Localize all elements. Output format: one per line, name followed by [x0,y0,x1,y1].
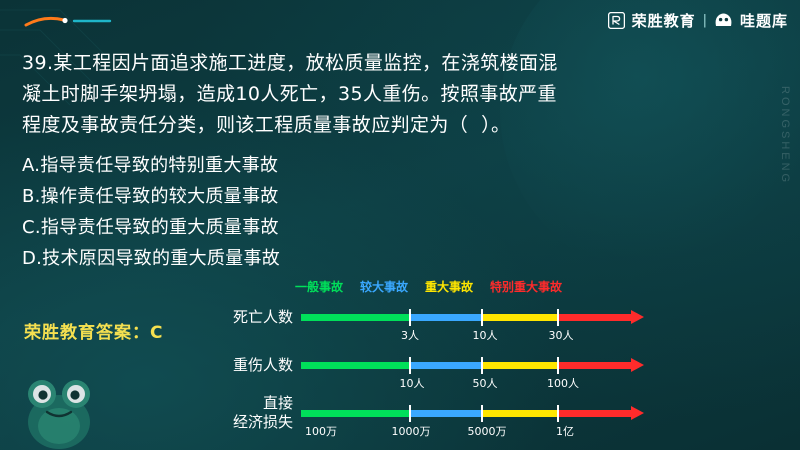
tick-label: 10人 [400,375,425,391]
legend-item-major: 较大事故 [360,278,408,295]
tick-label: 3人 [401,327,419,343]
segment-serious [482,362,558,369]
tick-label: 1亿 [556,423,574,439]
option-a: A.指导责任导致的特别重大事故 [22,150,722,181]
rongsheng-r-icon [608,12,625,29]
question-line: 39.某工程因片面追求施工进度，放松质量监控，在浇筑楼面混 [22,48,778,79]
row-arrow-icon [631,358,644,372]
wa-tiku-face-icon [714,12,733,29]
segment-serious [482,314,558,321]
tick-mark [481,405,483,422]
answer-label: 荣胜教育答案： [24,323,150,343]
row-label-economic-loss: 直接 经济损失 [215,394,293,432]
tick-mark [481,309,483,326]
row-label-serious-injuries: 重伤人数 [215,356,293,375]
option-d: D.技术原因导致的重大质量事故 [22,243,722,274]
options-list: A.指导责任导致的特别重大事故 B.操作责任导致的较大质量事故 C.指导责任导致… [22,150,722,274]
answer-line: 荣胜教育答案：C [24,318,163,343]
option-c: C.指导责任导致的重大质量事故 [22,212,722,243]
segment-general [301,362,410,369]
tick-label: 50人 [473,375,498,391]
segment-general [301,314,410,321]
option-b: B.操作责任导致的较大质量事故 [22,181,722,212]
row-arrow-icon [631,310,644,324]
tick-label: 100万 [305,423,337,439]
segment-general [301,410,410,417]
tick-mark [409,309,411,326]
row-bar [301,410,631,417]
watermark-text: RONGSHENG [779,86,791,185]
orange-arc-logo-icon [22,14,114,30]
legend-item-serious: 重大事故 [425,278,473,295]
tick-label: 100人 [547,375,579,391]
chart-row: 重伤人数 10人 50人 100人 [215,356,785,400]
segment-extra-serious [558,410,631,417]
tick-mark [409,405,411,422]
tick-mark [557,405,559,422]
segment-major [410,362,483,369]
brand-separator: | [703,13,707,28]
question-text: 39.某工程因片面追求施工进度，放松质量监控，在浇筑楼面混 凝土时脚手架坍塌，造… [22,48,778,141]
tick-mark [557,309,559,326]
row-bar [301,362,631,369]
question-line: 凝土时脚手架坍塌，造成10人死亡，35人重伤。按照事故严重 [22,79,778,110]
brand-right-label: 哇题库 [740,10,788,31]
tick-mark [409,357,411,374]
segment-major [410,410,483,417]
segment-major [410,314,483,321]
segment-extra-serious [558,362,631,369]
brand-lockup: 荣胜教育 | 哇题库 [608,10,788,31]
severity-classification-chart: 一般事故 较大事故 重大事故 特别重大事故 死亡人数 3人 10人 30人 重伤… [215,278,785,448]
segment-extra-serious [558,314,631,321]
tick-label: 30人 [549,327,574,343]
row-arrow-icon [631,406,644,420]
tick-label: 5000万 [468,423,507,439]
row-label-deaths: 死亡人数 [215,308,293,327]
frog-mascot-icon [16,366,102,450]
segment-serious [482,410,558,417]
legend-item-general: 一般事故 [295,278,343,295]
answer-value: C [150,323,163,343]
chart-legend: 一般事故 较大事故 重大事故 特别重大事故 [295,278,562,295]
question-line: 程度及事故责任分类，则该工程质量事故应判定为（ ）。 [22,110,778,141]
chart-row: 死亡人数 3人 10人 30人 [215,308,785,352]
chart-row: 直接 经济损失 100万 1000万 5000万 1亿 [215,404,785,448]
row-bar [301,314,631,321]
brand-left-label: 荣胜教育 [632,10,696,31]
legend-item-extra-serious: 特别重大事故 [490,278,562,295]
tick-label: 10人 [473,327,498,343]
tick-label: 1000万 [392,423,431,439]
tick-mark [557,357,559,374]
header-bar: 荣胜教育 | 哇题库 [0,0,800,44]
tick-mark [481,357,483,374]
